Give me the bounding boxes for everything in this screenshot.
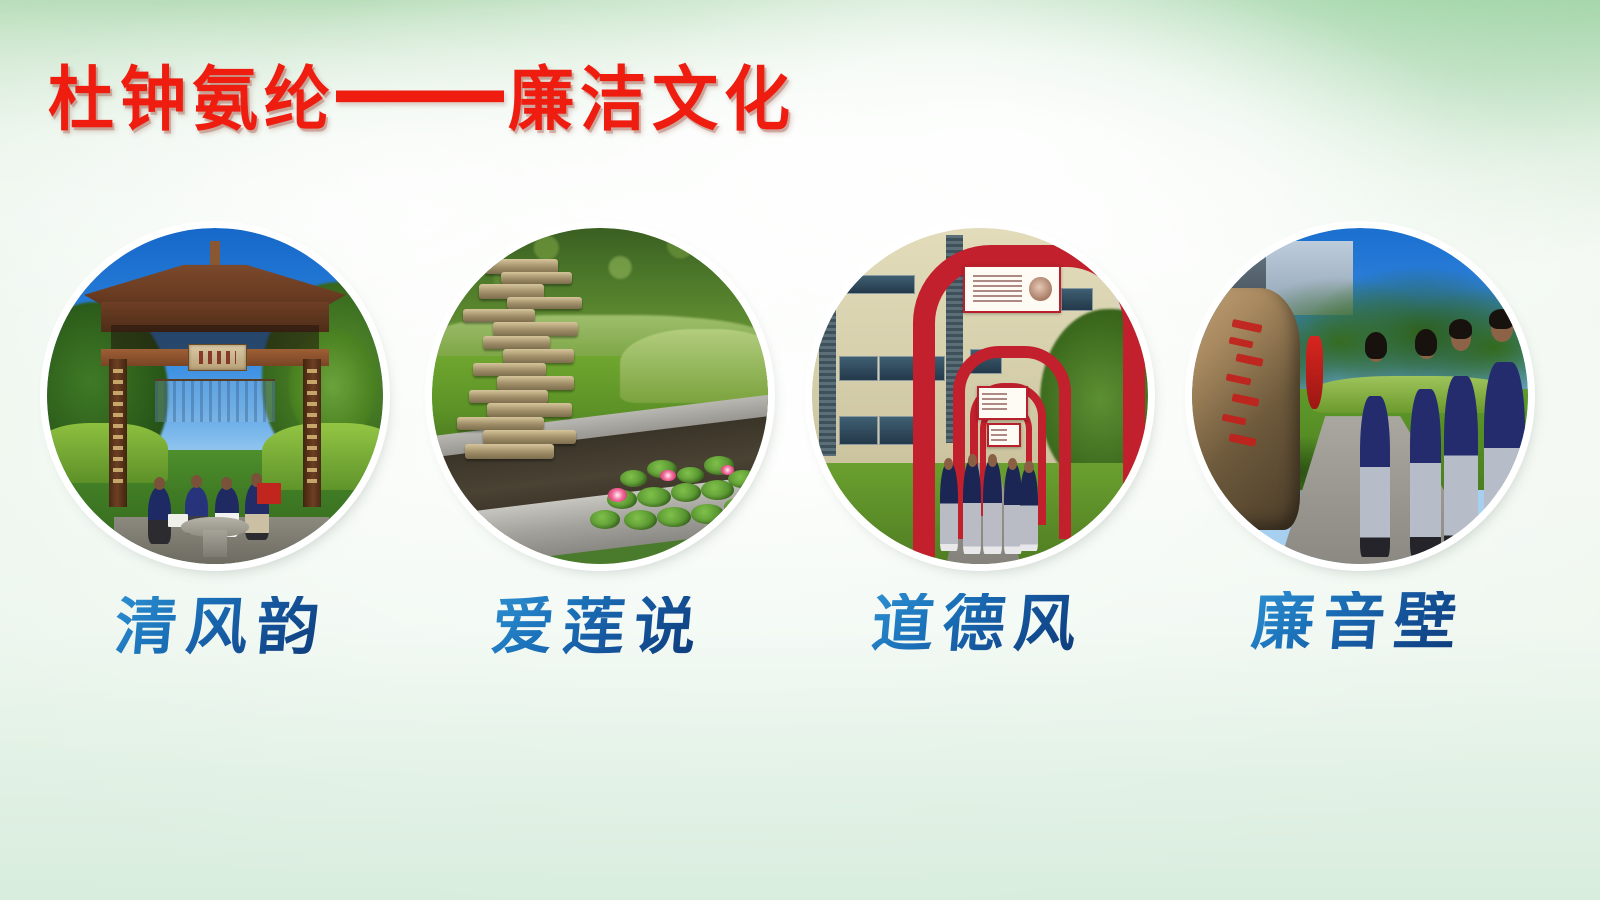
photo-caption-1: 清风韵	[112, 596, 330, 658]
display-board-far	[987, 423, 1021, 447]
photo-circle-1[interactable]	[47, 228, 383, 564]
rockery-sculpture	[479, 255, 580, 463]
photo-gallery-row	[0, 228, 1600, 568]
photo-art-4	[1192, 228, 1528, 564]
title-sub-text: 廉洁文化	[508, 58, 796, 141]
photo-image-inscribed-stone	[1192, 228, 1528, 564]
photo-caption-3: 道德风	[869, 593, 1087, 655]
photo-image-red-arches	[812, 228, 1148, 564]
photo-image-lotus-pond	[432, 228, 768, 564]
photo-card-4	[1192, 228, 1528, 564]
photo-card-3	[812, 228, 1148, 564]
slide-canvas: 杜钟氨纶廉洁文化	[0, 0, 1600, 900]
photo-art-3	[812, 228, 1148, 564]
photo-image-pavilion	[47, 228, 383, 564]
photo-caption-2: 爱莲说	[489, 596, 707, 658]
photo-circle-3[interactable]	[812, 228, 1148, 564]
page-title: 杜钟氨纶廉洁文化	[48, 64, 796, 134]
pavilion-plaque	[188, 344, 247, 371]
display-board-near	[963, 265, 1061, 313]
photo-card-2	[432, 228, 768, 564]
photo-card-1	[47, 228, 383, 564]
photo-circle-2[interactable]	[432, 228, 768, 564]
photo-caption-4: 廉音壁	[1249, 591, 1467, 653]
title-em-dash	[336, 91, 504, 103]
red-banner	[1306, 336, 1323, 410]
display-board-mid	[977, 386, 1028, 420]
title-main-text: 杜钟氨纶	[48, 58, 336, 141]
photo-circle-4[interactable]	[1192, 228, 1528, 564]
photo-art-2	[432, 228, 768, 564]
photo-art-1	[47, 228, 383, 564]
